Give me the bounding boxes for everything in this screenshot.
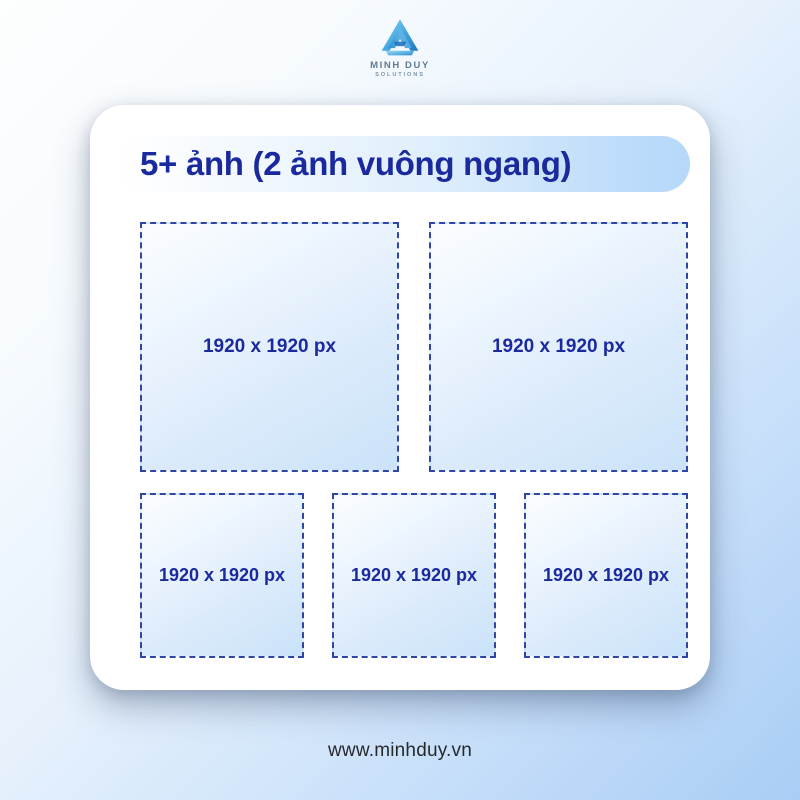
image-placeholder-3[interactable]: 1920 x 1920 px [140,493,304,658]
image-placeholder-5[interactable]: 1920 x 1920 px [524,493,688,658]
brand-name: MINH DUY [370,60,430,71]
bottom-placeholder-row: 1920 x 1920 px 1920 x 1920 px 1920 x 192… [140,493,688,658]
page-title: 5+ ảnh (2 ảnh vuông ngang) [140,145,571,183]
image-placeholder-1[interactable]: 1920 x 1920 px [140,222,399,472]
image-placeholder-4[interactable]: 1920 x 1920 px [332,493,496,658]
footer-website[interactable]: www.minhduy.vn [0,740,800,762]
layout-card: 5+ ảnh (2 ảnh vuông ngang) 1920 x 1920 p… [90,105,710,690]
placeholder-label: 1920 x 1920 px [492,334,625,360]
top-placeholder-row: 1920 x 1920 px 1920 x 1920 px [140,222,688,472]
minh-duy-triangle-logo-icon [379,18,421,56]
placeholder-label: 1920 x 1920 px [543,563,669,587]
brand-tagline: SOLUTIONS [375,72,425,78]
placeholder-label: 1920 x 1920 px [351,563,477,587]
placeholder-label: 1920 x 1920 px [203,334,336,360]
image-placeholder-2[interactable]: 1920 x 1920 px [429,222,688,472]
placeholder-label: 1920 x 1920 px [159,563,285,587]
brand-header: MINH DUY SOLUTIONS [0,18,800,78]
title-banner: 5+ ảnh (2 ảnh vuông ngang) [118,136,690,192]
